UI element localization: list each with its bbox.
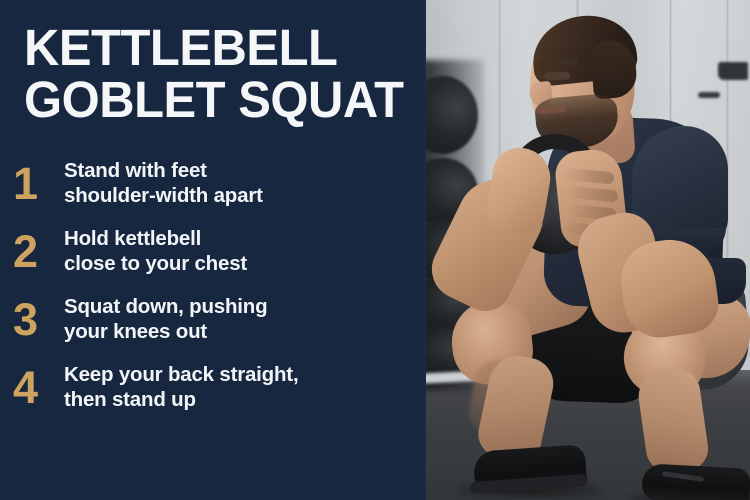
- step-text-line-1: Hold kettlebell: [64, 227, 201, 250]
- eye: [544, 72, 570, 81]
- step-number: 1: [0, 161, 50, 206]
- person-squatting: [426, 0, 750, 500]
- step-text-line-1: Keep your back straight,: [64, 363, 298, 386]
- step-text-line-2: then stand up: [64, 387, 426, 412]
- step-text-line-2: your knees out: [64, 319, 426, 344]
- right-shoe: [641, 463, 750, 500]
- step-number: 4: [0, 365, 50, 410]
- step-text: Keep your back straight, then stand up: [50, 362, 426, 412]
- page-title: KETTLEBELL GOBLET SQUAT: [24, 22, 424, 126]
- exercise-infographic: KETTLEBELL GOBLET SQUAT 1 Stand with fee…: [0, 0, 750, 500]
- panel-photo-divider: [420, 0, 426, 500]
- list-item: 1 Stand with feet shoulder-width apart: [0, 155, 426, 211]
- step-text-line-1: Stand with feet: [64, 159, 207, 182]
- step-number: 2: [0, 229, 50, 274]
- exercise-photo: [426, 0, 750, 500]
- steps-list: 1 Stand with feet shoulder-width apart 2…: [0, 155, 426, 427]
- title-line-1: KETTLEBELL: [24, 22, 408, 74]
- step-text: Squat down, pushing your knees out: [50, 294, 426, 344]
- step-text-line-2: close to your chest: [64, 251, 426, 276]
- step-number: 3: [0, 297, 50, 342]
- step-text-line-1: Squat down, pushing: [64, 295, 267, 318]
- step-text-line-2: shoulder-width apart: [64, 183, 426, 208]
- step-text: Hold kettlebell close to your chest: [50, 226, 426, 276]
- list-item: 2 Hold kettlebell close to your chest: [0, 223, 426, 279]
- instruction-panel: KETTLEBELL GOBLET SQUAT 1 Stand with fee…: [0, 0, 426, 500]
- step-text: Stand with feet shoulder-width apart: [50, 158, 426, 208]
- list-item: 4 Keep your back straight, then stand up: [0, 359, 426, 415]
- title-line-2: GOBLET SQUAT: [24, 74, 408, 126]
- list-item: 3 Squat down, pushing your knees out: [0, 291, 426, 347]
